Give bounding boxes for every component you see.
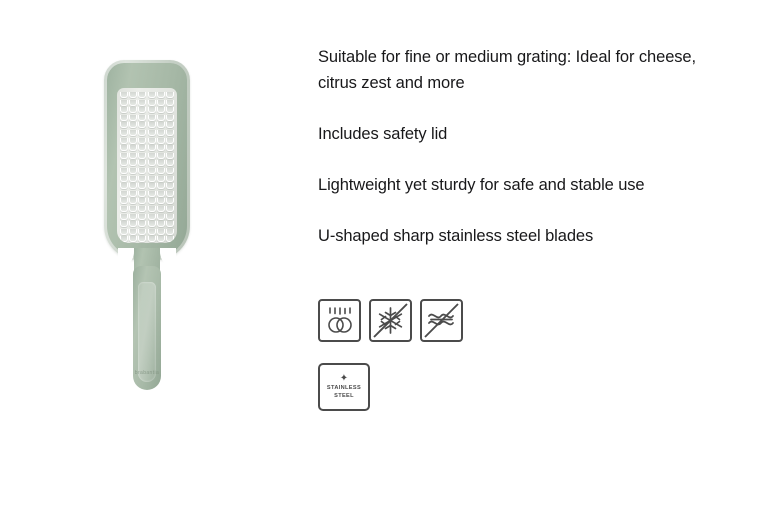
blade: [120, 176, 128, 182]
blade: [129, 160, 137, 166]
grater-handle: brabantia: [133, 266, 161, 390]
blade: [157, 107, 165, 113]
not-freezer-safe-icon: [369, 299, 412, 342]
blade: [148, 115, 156, 121]
feature-item: U-shaped sharp stainless steel blades: [318, 223, 728, 249]
blade-row: [117, 183, 177, 189]
blade: [166, 214, 174, 220]
blade: [157, 130, 165, 136]
blade: [138, 191, 146, 197]
blade: [148, 221, 156, 227]
blade-row: [117, 100, 177, 106]
blade: [129, 191, 137, 197]
blade: [166, 100, 174, 106]
blade: [129, 176, 137, 182]
blade: [138, 236, 146, 242]
blade: [166, 221, 174, 227]
blade: [148, 229, 156, 235]
blade: [148, 138, 156, 144]
blade: [120, 115, 128, 121]
blade: [157, 214, 165, 220]
blade: [157, 92, 165, 98]
blade: [148, 176, 156, 182]
blade: [157, 145, 165, 151]
handle-brand-text: brabantia: [133, 370, 161, 376]
blade: [157, 198, 165, 204]
blade: [138, 92, 146, 98]
blade: [129, 122, 137, 128]
blade: [138, 107, 146, 113]
blade: [166, 206, 174, 212]
blade: [148, 107, 156, 113]
blade-row: [117, 130, 177, 136]
blade-row: [117, 229, 177, 235]
blade: [120, 221, 128, 227]
blade: [157, 168, 165, 174]
blade-row: [117, 206, 177, 212]
blade: [166, 130, 174, 136]
blade-row: [117, 92, 177, 98]
blade: [166, 176, 174, 182]
blade: [166, 153, 174, 159]
product-image: brabantia: [0, 0, 300, 512]
blade-row: [117, 191, 177, 197]
blade: [129, 221, 137, 227]
blade: [138, 160, 146, 166]
blade: [166, 183, 174, 189]
blade: [138, 138, 146, 144]
blade: [120, 130, 128, 136]
blade: [129, 214, 137, 220]
blade: [120, 229, 128, 235]
blade: [166, 191, 174, 197]
blade: [138, 130, 146, 136]
blade: [120, 214, 128, 220]
blade: [138, 198, 146, 204]
blade: [138, 145, 146, 151]
blade: [157, 160, 165, 166]
blade: [166, 168, 174, 174]
blade: [157, 153, 165, 159]
blade: [120, 168, 128, 174]
blade: [148, 168, 156, 174]
blade: [166, 138, 174, 144]
feature-item: Lightweight yet sturdy for safe and stab…: [318, 172, 728, 198]
blade: [120, 153, 128, 159]
blade: [148, 92, 156, 98]
blade: [120, 183, 128, 189]
blade: [148, 191, 156, 197]
blade: [120, 138, 128, 144]
blade: [120, 160, 128, 166]
blade: [120, 191, 128, 197]
blade-row: [117, 138, 177, 144]
blade: [129, 130, 137, 136]
blade: [138, 100, 146, 106]
blade: [166, 198, 174, 204]
blade: [129, 236, 137, 242]
blade: [138, 221, 146, 227]
blade: [148, 160, 156, 166]
blade: [148, 198, 156, 204]
blade: [148, 183, 156, 189]
blade: [148, 145, 156, 151]
blade: [120, 100, 128, 106]
blade-row: [117, 145, 177, 151]
sparkle-icon: ✦: [340, 374, 348, 383]
blade: [148, 214, 156, 220]
feature-item: Suitable for fine or medium grating: Ide…: [318, 44, 728, 96]
blade: [157, 100, 165, 106]
blade: [138, 176, 146, 182]
blade: [129, 183, 137, 189]
blade: [157, 221, 165, 227]
blade-row: [117, 115, 177, 121]
blade-row: [117, 122, 177, 128]
blade-row: [117, 176, 177, 182]
blade: [148, 122, 156, 128]
blade: [138, 153, 146, 159]
blade: [129, 107, 137, 113]
blade: [166, 229, 174, 235]
blade: [138, 115, 146, 121]
blade: [138, 122, 146, 128]
blade: [129, 206, 137, 212]
badge-line-2: STEEL: [334, 393, 354, 401]
blade-row: [117, 236, 177, 242]
blade: [148, 236, 156, 242]
care-icon-group: [318, 299, 463, 342]
blade-row: [117, 107, 177, 113]
blade: [120, 198, 128, 204]
blade: [148, 153, 156, 159]
blade: [120, 145, 128, 151]
blade: [129, 115, 137, 121]
badge-line-1: STAINLESS: [327, 385, 361, 393]
blade: [148, 130, 156, 136]
blade: [166, 160, 174, 166]
blade: [129, 198, 137, 204]
stainless-steel-badge: ✦ STAINLESS STEEL: [318, 363, 370, 411]
blade-row: [117, 214, 177, 220]
blade: [157, 206, 165, 212]
blade: [129, 168, 137, 174]
blade: [138, 168, 146, 174]
blade: [157, 236, 165, 242]
dishwasher-safe-icon: [318, 299, 361, 342]
blade: [157, 183, 165, 189]
feature-item: Includes safety lid: [318, 121, 728, 147]
blade: [157, 176, 165, 182]
blade: [157, 122, 165, 128]
blade: [166, 122, 174, 128]
blade-row: [117, 221, 177, 227]
blade: [138, 183, 146, 189]
grater-product: brabantia: [104, 60, 190, 390]
handle-inset-panel: [138, 282, 156, 382]
blade: [157, 138, 165, 144]
blade: [166, 115, 174, 121]
blade: [129, 100, 137, 106]
blade: [157, 191, 165, 197]
blade: [120, 92, 128, 98]
blade: [157, 115, 165, 121]
blade: [148, 100, 156, 106]
blade: [138, 214, 146, 220]
not-microwave-safe-icon: [420, 299, 463, 342]
blade-row: [117, 160, 177, 166]
blade: [129, 153, 137, 159]
feature-list: Suitable for fine or medium grating: Ide…: [318, 44, 728, 249]
blade: [138, 206, 146, 212]
blade: [120, 107, 128, 113]
blade: [166, 92, 174, 98]
blade: [148, 206, 156, 212]
blade: [129, 145, 137, 151]
blade: [166, 145, 174, 151]
blade: [120, 122, 128, 128]
blade: [129, 92, 137, 98]
blade-row: [117, 153, 177, 159]
blade: [129, 138, 137, 144]
blade: [138, 229, 146, 235]
blade: [120, 206, 128, 212]
blade: [157, 229, 165, 235]
grating-plate: [117, 88, 177, 243]
blade-row: [117, 168, 177, 174]
blade: [166, 107, 174, 113]
blade: [129, 229, 137, 235]
blade-row: [117, 198, 177, 204]
